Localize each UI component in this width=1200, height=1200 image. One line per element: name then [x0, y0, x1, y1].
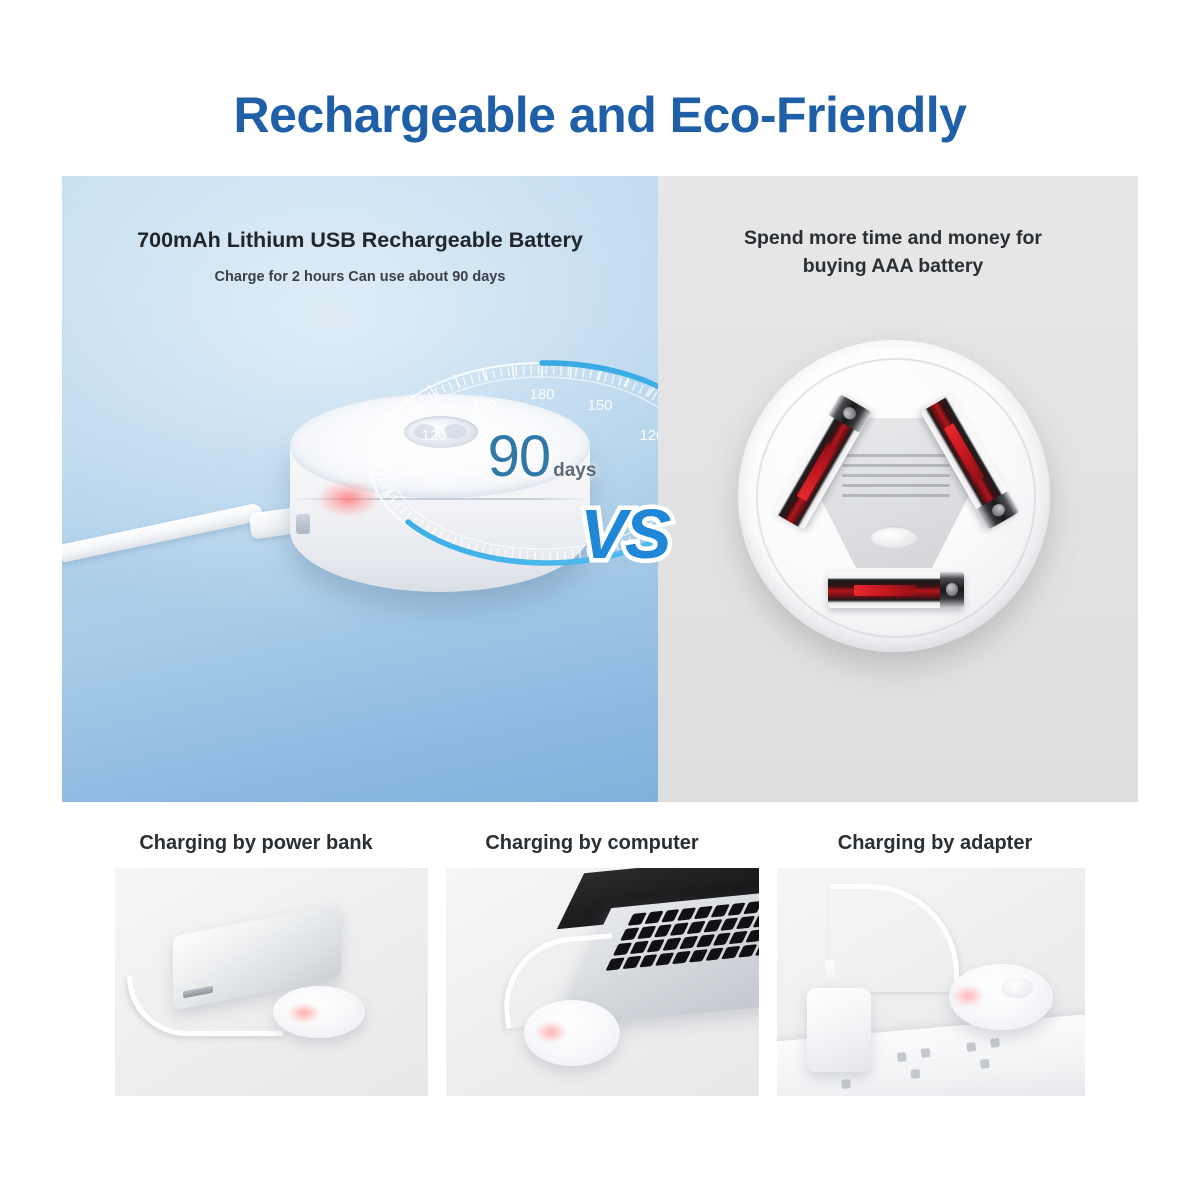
housing-screw	[870, 526, 918, 548]
sensor-light-device	[949, 964, 1053, 1030]
laptop-usb-charging-photo	[446, 868, 759, 1096]
label-text-lines	[842, 454, 950, 516]
battery-terminal-cap	[940, 572, 964, 608]
svg-text:150: 150	[587, 397, 612, 414]
disposable-battery-side-panel: Spend more time and money for buying AAA…	[658, 176, 1138, 802]
led-glow-indicator	[318, 482, 378, 516]
disposable-headline-line2: buying AAA battery	[803, 255, 984, 277]
versus-badge: VS	[580, 494, 669, 574]
aaa-batteries-product-photo	[724, 326, 1072, 674]
charging-method-caption: Charging by power bank	[84, 832, 428, 855]
usb-wall-adapter	[807, 988, 871, 1072]
rechargeable-subline: Charge for 2 hours Can use about 90 days	[62, 269, 658, 285]
rechargeable-headline: 700mAh Lithium USB Rechargeable Battery	[62, 228, 658, 253]
charging-methods-caption-row: Charging by power bank Charging by compu…	[62, 832, 1138, 866]
sensor-light-device	[273, 986, 365, 1038]
sensor-light-device	[524, 1000, 620, 1066]
rechargeable-side-panel: 700mAh Lithium USB Rechargeable Battery …	[62, 176, 702, 802]
wall-adapter-charging-photo	[777, 868, 1085, 1096]
charging-method-caption: Charging by computer	[430, 832, 754, 855]
disposable-headline-line1: Spend more time and money for	[744, 227, 1042, 249]
comparison-hero-panel: 700mAh Lithium USB Rechargeable Battery …	[62, 176, 1138, 802]
page-title: Rechargeable and Eco-Friendly	[0, 86, 1200, 144]
power-bank-charging-photo	[115, 868, 428, 1096]
motion-sensor-dome-icon	[404, 416, 478, 448]
product-infographic-page: Rechargeable and Eco-Friendly 700mAh Lit…	[0, 0, 1200, 1200]
usb-cable	[62, 502, 264, 563]
usb-port	[296, 514, 310, 534]
battery-label-stripe	[854, 585, 916, 596]
charging-methods-photo-row	[115, 868, 1085, 1096]
aaa-battery	[828, 572, 964, 608]
disposable-headline: Spend more time and money for buying AAA…	[658, 224, 1128, 281]
charging-method-caption: Charging by adapter	[754, 832, 1116, 855]
svg-text:180: 180	[529, 386, 554, 403]
